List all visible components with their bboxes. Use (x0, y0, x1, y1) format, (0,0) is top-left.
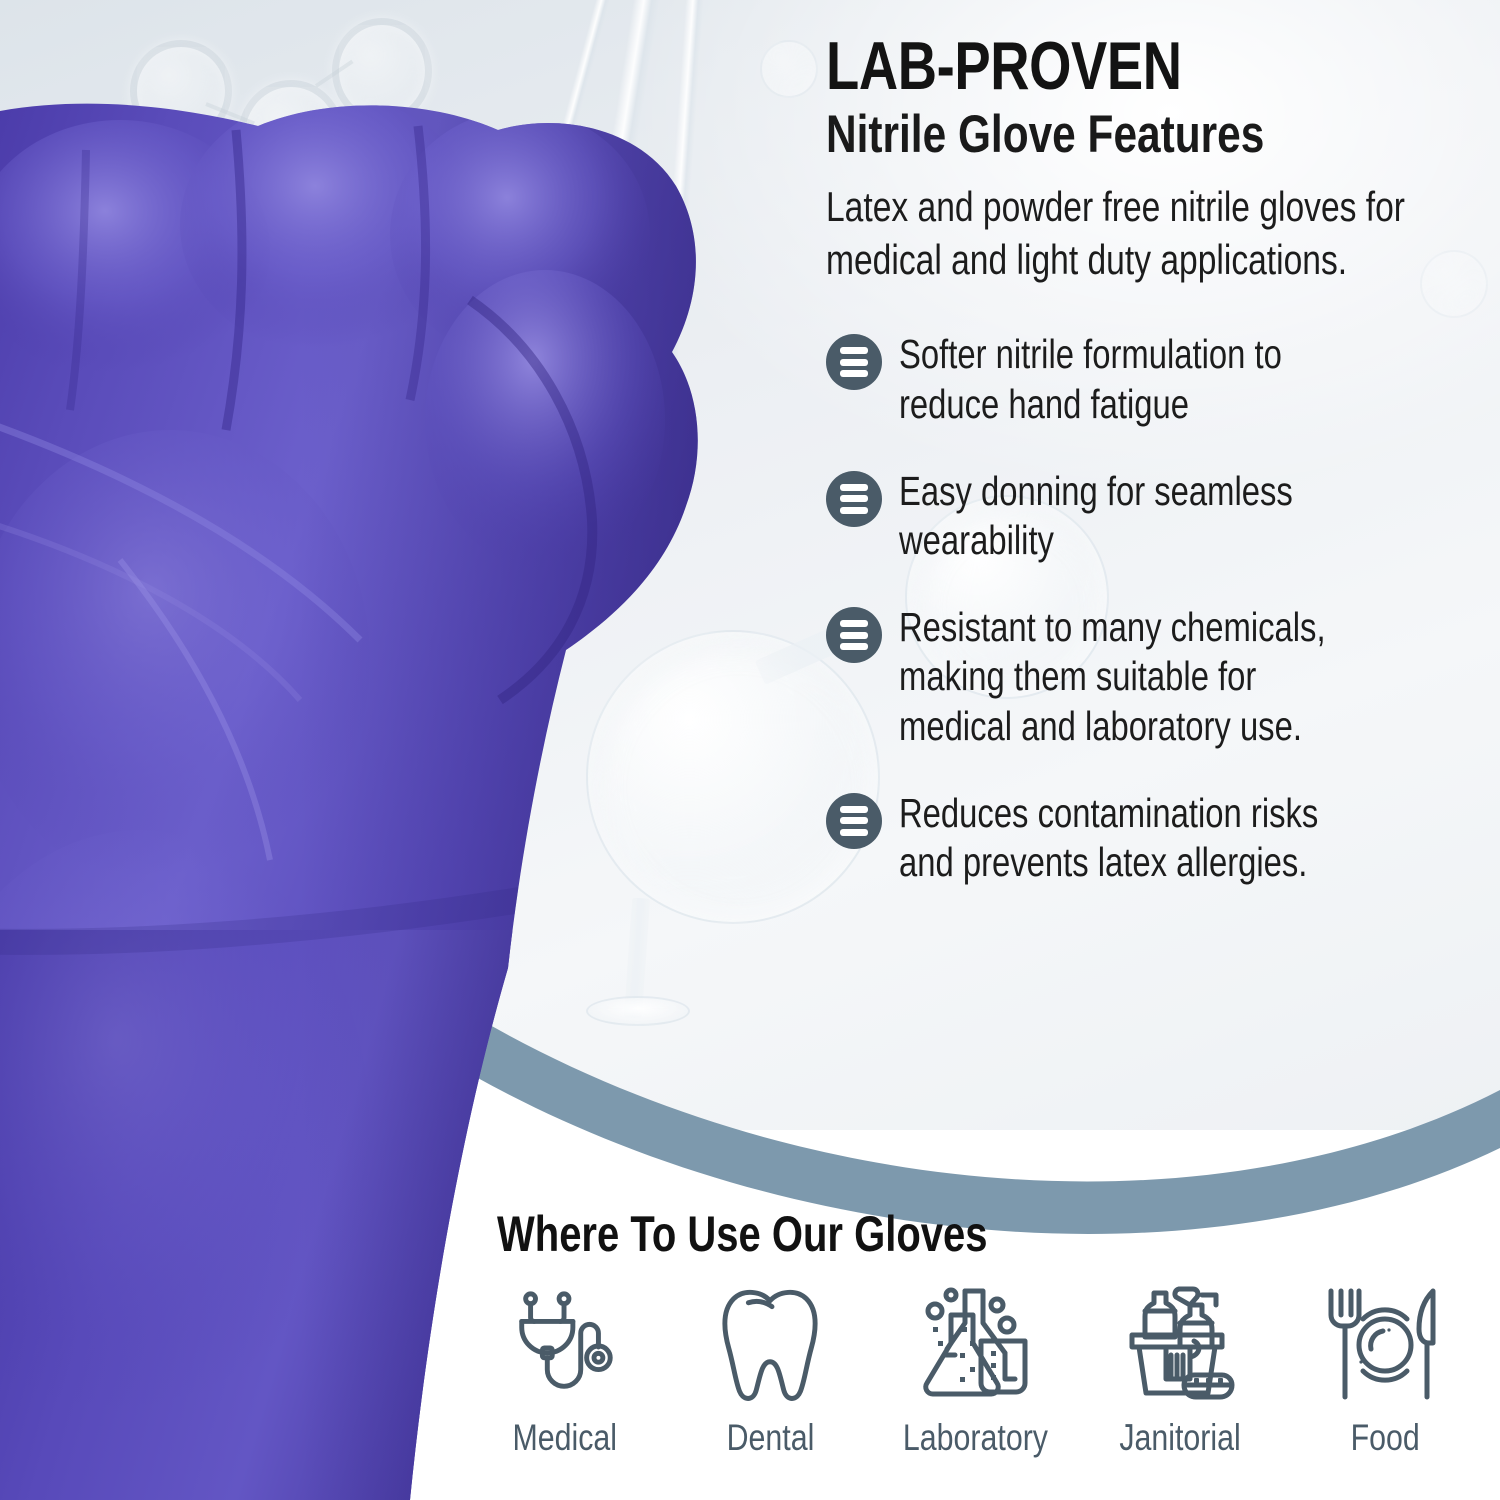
molecule-rings-decoration (120, 10, 540, 310)
tooth-icon (714, 1277, 826, 1405)
feature-list: Softer nitrile formulation to reduce han… (826, 330, 1466, 887)
usage-item-dental: Dental (675, 1277, 865, 1459)
list-item: Reduces contamination risks and prevents… (826, 789, 1466, 887)
feature-text: Softer nitrile formulation to reduce han… (899, 330, 1353, 428)
pipette-rod-decoration (654, 0, 708, 459)
list-lines-icon (826, 471, 882, 527)
list-item: Easy donning for seamless wearability (826, 467, 1466, 565)
fork-plate-knife-icon (1323, 1277, 1447, 1405)
usage-label: Janitorial (1119, 1417, 1240, 1459)
list-item: Resistant to many chemicals, making them… (826, 603, 1466, 751)
usage-label: Medical (513, 1417, 618, 1459)
page-title: Nitrile Glove Features (826, 107, 1338, 163)
cleaning-bucket-icon (1118, 1277, 1242, 1405)
usage-label: Laboratory (902, 1417, 1047, 1459)
usage-item-janitorial: Janitorial (1085, 1277, 1275, 1459)
intro-paragraph: Latex and powder free nitrile gloves for… (826, 181, 1466, 286)
bubble-decoration (760, 40, 818, 98)
usage-label: Dental (726, 1417, 814, 1459)
feature-text: Reduces contamination risks and prevents… (899, 789, 1353, 887)
usage-label: Food (1350, 1417, 1419, 1459)
flasks-beaker-icon (913, 1277, 1037, 1405)
product-infographic: LAB-PROVEN Nitrile Glove Features Latex … (0, 0, 1500, 1500)
usage-icon-row: Medical Dental (470, 1277, 1480, 1459)
feature-text: Resistant to many chemicals, making them… (899, 603, 1353, 751)
usage-item-laboratory: Laboratory (880, 1277, 1070, 1459)
feature-text: Easy donning for seamless wearability (899, 467, 1353, 565)
usage-section: Where To Use Our Gloves (0, 1185, 1500, 1500)
list-lines-icon (826, 793, 882, 849)
usage-item-food: Food (1290, 1277, 1480, 1459)
usage-title: Where To Use Our Gloves (497, 1205, 988, 1263)
stethoscope-icon (506, 1277, 624, 1405)
list-lines-icon (826, 607, 882, 663)
bubble-decoration (500, 440, 574, 514)
list-lines-icon (826, 334, 882, 390)
features-content: LAB-PROVEN Nitrile Glove Features Latex … (826, 34, 1466, 887)
page-kicker: LAB-PROVEN (826, 34, 1338, 99)
list-item: Softer nitrile formulation to reduce han… (826, 330, 1466, 428)
usage-item-medical: Medical (470, 1277, 660, 1459)
flask-foot-decoration (586, 996, 690, 1026)
